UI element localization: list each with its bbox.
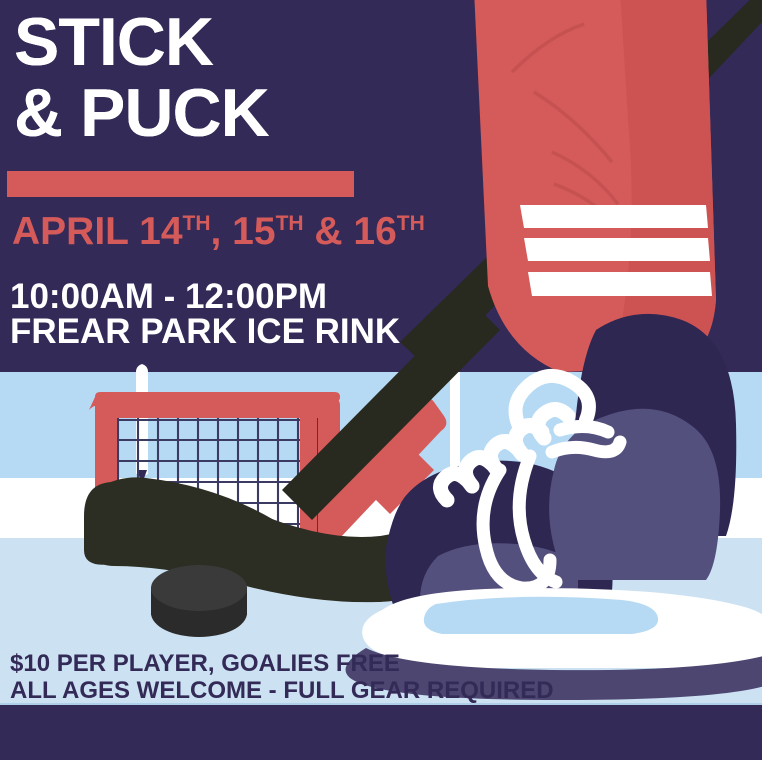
title-underline-bar bbox=[7, 171, 354, 197]
hockey-puck bbox=[151, 565, 247, 637]
date-part-2: , 15 bbox=[211, 210, 276, 253]
event-date: APRIL 14TH, 15TH & 16TH bbox=[12, 212, 425, 251]
date-ordinal-1: TH bbox=[183, 212, 211, 235]
footer-line-2: ALL AGES WELCOME - FULL GEAR REQUIRED bbox=[10, 677, 554, 704]
footer-line-1: $10 PER PLAYER, GOALIES FREE bbox=[10, 650, 554, 677]
date-ordinal-3: TH bbox=[397, 212, 425, 235]
player-leg-sock bbox=[474, 0, 716, 372]
page-title: STICK & PUCK bbox=[14, 10, 434, 145]
event-time: 10:00AM - 12:00PM bbox=[10, 278, 327, 316]
poster-canvas: STICK & PUCK APRIL 14TH, 15TH & 16TH 10:… bbox=[0, 0, 762, 760]
date-part-1: APRIL 14 bbox=[12, 210, 183, 253]
date-ordinal-2: TH bbox=[276, 212, 304, 235]
event-details: $10 PER PLAYER, GOALIES FREE ALL AGES WE… bbox=[10, 650, 554, 705]
date-part-3: & 16 bbox=[304, 210, 397, 253]
sock-stripes bbox=[520, 205, 712, 296]
event-venue: FREAR PARK ICE RINK bbox=[10, 313, 400, 351]
title-line-1: STICK bbox=[14, 10, 434, 75]
title-line-2: & PUCK bbox=[14, 81, 434, 146]
